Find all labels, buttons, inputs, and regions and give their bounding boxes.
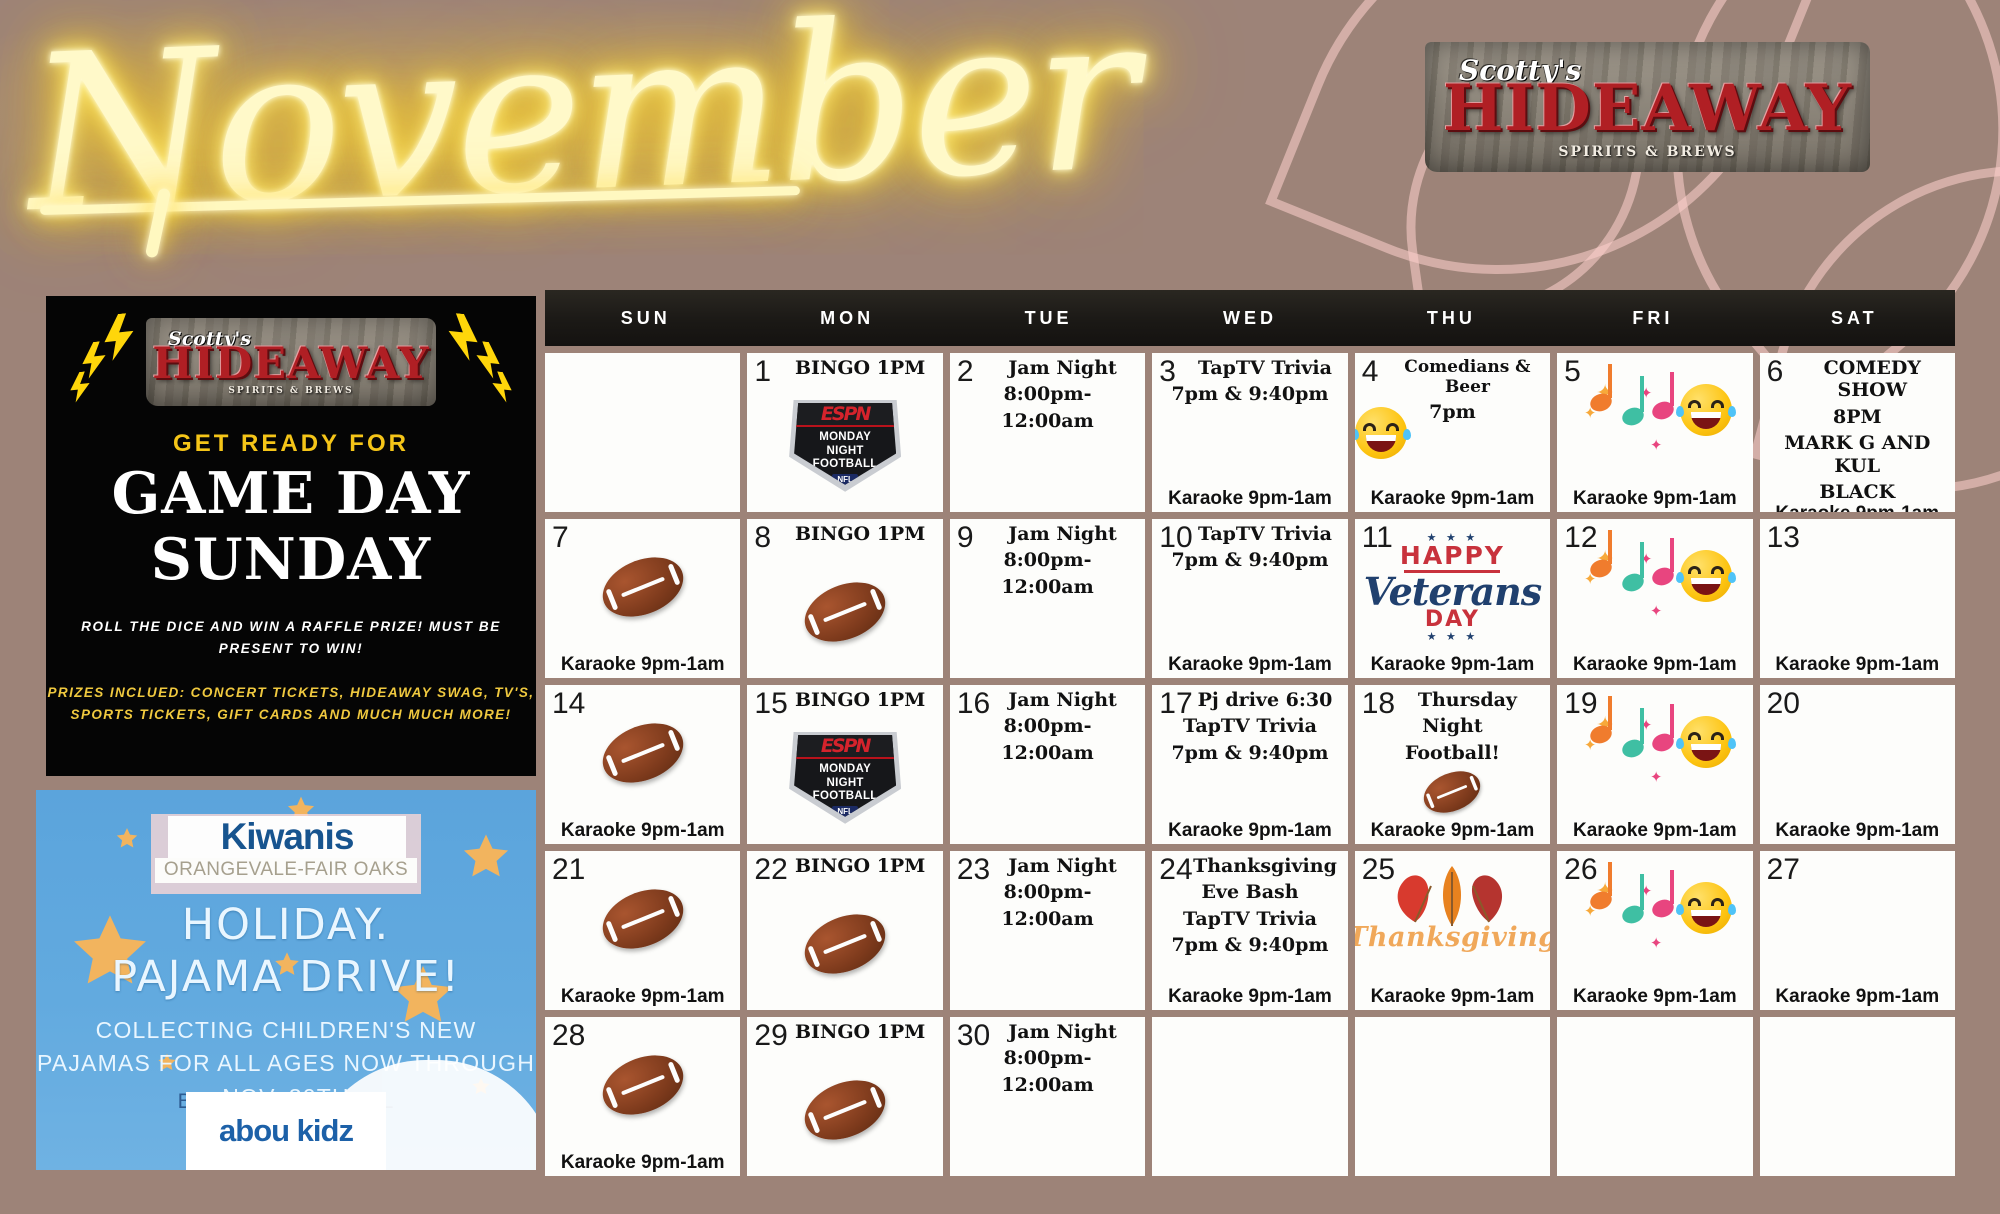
event-line: Jam Night — [950, 685, 1145, 711]
calendar-day-6[interactable]: 6COMEDY SHOW8PMMARK G AND KULBLACKKaraok… — [1760, 353, 1955, 512]
star-icon — [114, 826, 140, 851]
event-text-block: Jam Night8:00pm-12:00am — [950, 353, 1145, 432]
event-text-block: BINGO 1PM — [747, 1017, 942, 1043]
karaoke-note: Karaoke 9pm-1am — [1152, 488, 1347, 512]
day-number: 21 — [552, 853, 585, 886]
brand-tagline-text: SPIRITS & BREWS — [1558, 144, 1736, 160]
karaoke-note: Karaoke 9pm-1am — [1152, 986, 1347, 1010]
aboutkidz-logo-text: abou kidz — [219, 1113, 353, 1149]
event-line: Football! — [1355, 738, 1550, 764]
calendar-day-empty — [1557, 1017, 1752, 1176]
star-row: ★ ★ ★ — [1364, 631, 1542, 642]
event-line: 12:00am — [950, 738, 1145, 764]
brand-logo-top: Scotty's HIDEAWAY SPIRITS & BREWS — [1425, 42, 1870, 172]
karaoke-note: Karaoke 9pm-1am — [1355, 488, 1550, 512]
event-line: 8PM — [1760, 402, 1955, 428]
karaoke-note: Karaoke 9pm-1am — [1557, 820, 1752, 844]
event-line: TapTV Trivia — [1152, 353, 1347, 379]
weekday-label-wed: WED — [1149, 290, 1350, 346]
calendar-day-27[interactable]: 27Karaoke 9pm-1am — [1760, 851, 1955, 1010]
month-title-neon-sign: November — [0, 0, 1120, 230]
event-text-block: Jam Night8:00pm-12:00am — [950, 1017, 1145, 1096]
karaoke-note: Karaoke 9pm-1am — [1355, 820, 1550, 844]
karaoke-note: Karaoke 9pm-1am — [1355, 654, 1550, 678]
event-text-block: BINGO 1PM — [747, 353, 942, 379]
day-number: 7 — [552, 521, 569, 554]
calendar-day-29[interactable]: 29BINGO 1PM — [747, 1017, 942, 1176]
calendar-day-9[interactable]: 9Jam Night8:00pm-12:00am — [950, 519, 1145, 678]
football-icon — [594, 1044, 692, 1126]
event-text-block: BINGO 1PM — [747, 519, 942, 545]
weekday-label-sun: SUN — [545, 290, 746, 346]
gameday-kicker: GET READY FOR — [173, 430, 409, 458]
event-text-block: Pj drive 6:30TapTV Trivia7pm & 9:40pm — [1152, 685, 1347, 764]
music-notes-icon: ✦ ✦ ✦ ✦ — [1580, 378, 1730, 464]
laughing-emoji-icon — [1680, 550, 1732, 602]
weekday-label-thu: THU — [1351, 290, 1552, 346]
event-line: BINGO 1PM — [747, 519, 942, 545]
music-notes-icon: ✦ ✦ ✦ ✦ — [1580, 710, 1730, 796]
karaoke-note: Karaoke 9pm-1am — [1557, 488, 1752, 512]
calendar-day-24[interactable]: 24ThanksgivingEve BashTapTV Trivia7pm & … — [1152, 851, 1347, 1010]
calendar-day-13[interactable]: 13Karaoke 9pm-1am — [1760, 519, 1955, 678]
calendar-day-12[interactable]: 12 ✦ ✦ ✦ ✦ Karaoke 9pm-1am — [1557, 519, 1752, 678]
event-line: 8:00pm- — [950, 877, 1145, 903]
gameday-prizes-note: PRIZES INCLUED: CONCERT TICKETS, HIDEAWA… — [46, 682, 536, 727]
event-line: Night — [1355, 711, 1550, 737]
event-text-block: Jam Night8:00pm-12:00am — [950, 685, 1145, 764]
calendar-day-15[interactable]: 15BINGO 1PM ESPN MONDAYNIGHTFOOTBALL NFL — [747, 685, 942, 844]
music-notes-icon: ✦ ✦ ✦ ✦ — [1580, 544, 1730, 630]
calendar-day-22[interactable]: 22BINGO 1PM — [747, 851, 942, 1010]
aboutkidz-logo: abou kidz — [186, 1092, 386, 1170]
cell-artwork: ESPN MONDAYNIGHTFOOTBALL NFL — [747, 711, 942, 844]
cell-artwork: ESPN MONDAYNIGHTFOOTBALL NFL — [747, 379, 942, 512]
event-line: TapTV Trivia — [1152, 711, 1347, 737]
event-line: TapTV Trivia — [1152, 519, 1347, 545]
event-line: 12:00am — [950, 406, 1145, 432]
karaoke-note: Karaoke 9pm-1am — [545, 1152, 740, 1176]
football-icon — [594, 878, 692, 960]
calendar: SUNMONTUEWEDTHUFRISAT 1BINGO 1PM ESPN MO… — [545, 290, 1955, 1170]
cell-artwork — [545, 519, 740, 654]
calendar-day-14[interactable]: 14 Karaoke 9pm-1am — [545, 685, 740, 844]
event-text-block: ThanksgivingEve BashTapTV Trivia7pm & 9:… — [1152, 851, 1347, 957]
event-line: 7pm & 9:40pm — [1152, 738, 1347, 764]
calendar-day-25[interactable]: 25 Thanksgiving Karaoke 9pm-1am — [1355, 851, 1550, 1010]
brand-logo-poster: Scotty's HIDEAWAY SPIRITS & BREWS — [146, 318, 436, 406]
day-number: 11 — [1362, 521, 1393, 554]
karaoke-note: Karaoke 9pm-1am — [1557, 986, 1752, 1010]
star-icon — [458, 830, 514, 884]
day-number: 14 — [552, 687, 585, 720]
calendar-day-17[interactable]: 17Pj drive 6:30TapTV Trivia7pm & 9:40pmK… — [1152, 685, 1347, 844]
calendar-day-11[interactable]: 11 ★ ★ ★ HAPPY Veterans DAY ★ ★ ★ Karaok… — [1355, 519, 1550, 678]
calendar-day-7[interactable]: 7 Karaoke 9pm-1am — [545, 519, 740, 678]
pajama-headline-line2: PAJAMA DRIVE! — [36, 952, 536, 1002]
karaoke-note: Karaoke 9pm-1am — [1557, 654, 1752, 678]
calendar-day-21[interactable]: 21 Karaoke 9pm-1am — [545, 851, 740, 1010]
event-line: 8:00pm- — [950, 1043, 1145, 1069]
event-text-block: ThursdayNightFootball! — [1355, 685, 1550, 764]
karaoke-note: Karaoke 9pm-1am — [1760, 986, 1955, 1010]
karaoke-note: Karaoke 9pm-1am — [1355, 986, 1550, 1010]
weekday-label-sat: SAT — [1754, 290, 1955, 346]
karaoke-note: Karaoke 9pm-1am — [545, 820, 740, 844]
calendar-day-20[interactable]: 20Karaoke 9pm-1am — [1760, 685, 1955, 844]
karaoke-note: Karaoke 9pm-1am — [545, 986, 740, 1010]
weekday-label-mon: MON — [746, 290, 947, 346]
event-line: Jam Night — [950, 353, 1145, 379]
event-line: 7pm & 9:40pm — [1152, 930, 1347, 956]
event-line: 7pm — [1355, 397, 1550, 423]
event-line: 12:00am — [950, 572, 1145, 598]
event-line: 7pm & 9:40pm — [1152, 545, 1347, 571]
kiwanis-chapter-name: ORANGEVALE-FAIR OAKS — [155, 858, 417, 883]
football-icon — [1418, 764, 1487, 821]
event-line: 12:00am — [950, 1070, 1145, 1096]
day-number: 28 — [552, 1019, 585, 1052]
event-line: 8:00pm- — [950, 379, 1145, 405]
poster-game-day-sunday: Scotty's HIDEAWAY SPIRITS & BREWS GET RE… — [46, 296, 536, 776]
gameday-headline-line2: SUNDAY — [151, 530, 431, 590]
football-icon — [594, 546, 692, 628]
cell-artwork — [747, 545, 942, 678]
calendar-weekday-header: SUNMONTUEWEDTHUFRISAT — [545, 290, 1955, 346]
pajama-headline-line1: HOLIDAY. — [36, 900, 536, 950]
event-line: BINGO 1PM — [747, 851, 942, 877]
espn-wordmark: ESPN — [821, 735, 870, 757]
gameday-raffle-note: ROLL THE DICE AND WIN A RAFFLE PRIZE! MU… — [46, 616, 536, 661]
day-number: 5 — [1564, 355, 1581, 388]
monday-night-football-logo: ESPN MONDAYNIGHTFOOTBALL NFL — [789, 732, 901, 824]
event-line: BINGO 1PM — [747, 1017, 942, 1043]
event-line: Thanksgiving — [1152, 851, 1347, 877]
calendar-day-empty — [1760, 1017, 1955, 1176]
event-line: Thursday — [1355, 685, 1550, 711]
karaoke-note: Karaoke 9pm-1am — [545, 654, 740, 678]
autumn-leaves-icon — [1377, 860, 1527, 930]
football-icon — [796, 903, 894, 985]
event-line: BINGO 1PM — [747, 353, 942, 379]
event-text-block: BINGO 1PM — [747, 685, 942, 711]
event-text-block: COMEDY SHOW8PMMARK G AND KULBLACK — [1760, 353, 1955, 503]
day-number: 26 — [1564, 853, 1597, 886]
cell-artwork — [1355, 764, 1550, 820]
day-number: 20 — [1767, 687, 1800, 720]
event-line: Eve Bash — [1152, 877, 1347, 903]
event-line: 12:00am — [950, 904, 1145, 930]
calendar-day-16[interactable]: 16Jam Night8:00pm-12:00am — [950, 685, 1145, 844]
event-line: BLACK — [1760, 477, 1955, 503]
music-notes-icon: ✦ ✦ ✦ ✦ — [1580, 876, 1730, 962]
football-icon — [796, 1069, 894, 1151]
calendar-day-26[interactable]: 26 ✦ ✦ ✦ ✦ Karaoke 9pm-1am — [1557, 851, 1752, 1010]
karaoke-note: Karaoke 9pm-1am — [1152, 654, 1347, 678]
calendar-day-10[interactable]: 10TapTV Trivia7pm & 9:40pmKaraoke 9pm-1a… — [1152, 519, 1347, 678]
weekday-label-fri: FRI — [1552, 290, 1753, 346]
event-text-block: Jam Night8:00pm-12:00am — [950, 519, 1145, 598]
calendar-day-1[interactable]: 1BINGO 1PM ESPN MONDAYNIGHTFOOTBALL NFL — [747, 353, 942, 512]
event-line: Comedians & Beer — [1355, 353, 1550, 397]
cell-artwork — [747, 877, 942, 1010]
event-text-block: Jam Night8:00pm-12:00am — [950, 851, 1145, 930]
calendar-day-empty — [545, 353, 740, 512]
calendar-day-28[interactable]: 28 Karaoke 9pm-1am — [545, 1017, 740, 1176]
calendar-day-2[interactable]: 2Jam Night8:00pm-12:00am — [950, 353, 1145, 512]
laughing-emoji-icon — [1680, 384, 1732, 436]
kiwanis-org-name: Kiwanis — [168, 816, 406, 859]
day-number: 27 — [1767, 853, 1800, 886]
espn-wordmark: ESPN — [821, 403, 870, 425]
brand-tagline-text: SPIRITS & BREWS — [228, 386, 353, 396]
event-line: 7pm & 9:40pm — [1152, 379, 1347, 405]
event-text-block: TapTV Trivia7pm & 9:40pm — [1152, 519, 1347, 572]
cell-artwork: ✦ ✦ ✦ ✦ — [1557, 353, 1752, 488]
calendar-day-30[interactable]: 30Jam Night8:00pm-12:00am — [950, 1017, 1145, 1176]
day-number: 19 — [1564, 687, 1597, 720]
event-line: 8:00pm- — [950, 545, 1145, 571]
calendar-day-3[interactable]: 3TapTV Trivia7pm & 9:40pmKaraoke 9pm-1am — [1152, 353, 1347, 512]
event-line: 8:00pm- — [950, 711, 1145, 737]
cell-artwork — [747, 1043, 942, 1176]
event-line: MARK G AND KUL — [1760, 428, 1955, 477]
calendar-day-8[interactable]: 8BINGO 1PM — [747, 519, 942, 678]
event-line: Jam Night — [950, 1017, 1145, 1043]
event-line: COMEDY SHOW — [1760, 353, 1955, 402]
karaoke-note: Karaoke 9pm-1am — [1760, 503, 1955, 512]
day-number: 25 — [1362, 853, 1395, 886]
event-line: TapTV Trivia — [1152, 904, 1347, 930]
event-text-block: TapTV Trivia7pm & 9:40pm — [1152, 353, 1347, 406]
football-icon — [796, 571, 894, 653]
laughing-emoji-icon — [1680, 882, 1732, 934]
brand-hideaway-text: HIDEAWAY — [1443, 79, 1852, 140]
event-line: Jam Night — [950, 851, 1145, 877]
event-line: Jam Night — [950, 519, 1145, 545]
calendar-day-5[interactable]: 5 ✦ ✦ ✦ ✦ Karaoke 9pm-1am — [1557, 353, 1752, 512]
karaoke-note: Karaoke 9pm-1am — [1760, 654, 1955, 678]
laughing-emoji-icon — [1680, 716, 1732, 768]
monday-night-football-logo: ESPN MONDAYNIGHTFOOTBALL NFL — [789, 400, 901, 492]
gameday-headline-line1: GAME DAY — [112, 464, 471, 524]
event-text-block: BINGO 1PM — [747, 851, 942, 877]
calendar-day-empty — [1152, 1017, 1347, 1176]
poster-pajama-drive: Kiwanis ORANGEVALE-FAIR OAKS HOLIDAY. PA… — [36, 790, 536, 1170]
event-text-block: Comedians & Beer7pm — [1355, 353, 1550, 424]
football-icon — [594, 712, 692, 794]
karaoke-note: Karaoke 9pm-1am — [1760, 820, 1955, 844]
calendar-day-4[interactable]: 4Comedians & Beer7pm Karaoke 9pm-1am — [1355, 353, 1550, 512]
calendar-grid: 1BINGO 1PM ESPN MONDAYNIGHTFOOTBALL NFL … — [545, 346, 1955, 1176]
veterans-word-text: Veterans — [1364, 573, 1542, 611]
calendar-day-19[interactable]: 19 ✦ ✦ ✦ ✦ Karaoke 9pm-1am — [1557, 685, 1752, 844]
event-line: Pj drive 6:30 — [1152, 685, 1347, 711]
weekday-label-tue: TUE — [948, 290, 1149, 346]
calendar-day-empty — [1355, 1017, 1550, 1176]
calendar-day-18[interactable]: 18ThursdayNightFootball! Karaoke 9pm-1am — [1355, 685, 1550, 844]
brand-hideaway-text: HIDEAWAY — [152, 344, 430, 385]
calendar-day-23[interactable]: 23Jam Night8:00pm-12:00am — [950, 851, 1145, 1010]
karaoke-note: Karaoke 9pm-1am — [1152, 820, 1347, 844]
event-line: BINGO 1PM — [747, 685, 942, 711]
day-number: 13 — [1767, 521, 1800, 554]
day-number: 12 — [1564, 521, 1597, 554]
